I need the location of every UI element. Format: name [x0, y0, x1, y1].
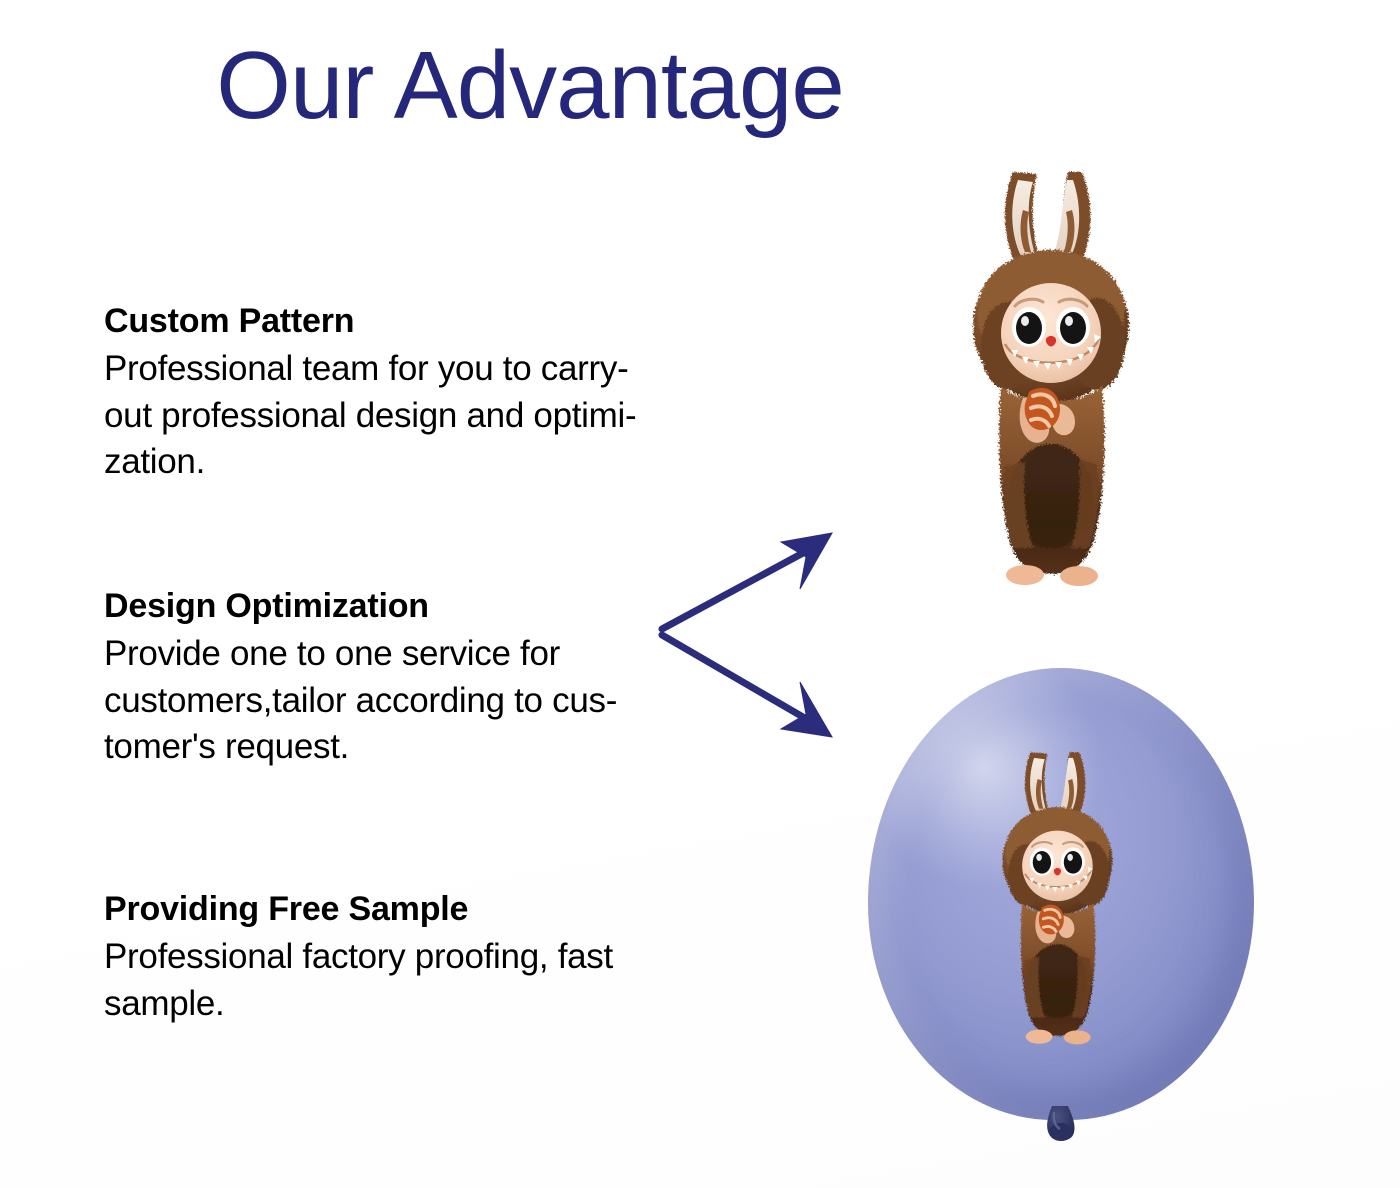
- feature-block-custom-pattern: Custom Pattern Professional team for you…: [104, 300, 794, 486]
- feature-body: Professional factory proofing, fast samp…: [104, 934, 794, 1027]
- advantage-infographic: Our Advantage Custom Pattern Professiona…: [0, 0, 1400, 1188]
- balloon-knot: [1039, 1106, 1083, 1146]
- feature-block-design-optimization: Design Optimization Provide one to one s…: [104, 585, 794, 771]
- feature-title: Providing Free Sample: [104, 888, 794, 930]
- page-title: Our Advantage: [0, 38, 1400, 134]
- balloon-printed-artwork: [986, 748, 1131, 1048]
- feature-body: Provide one to one service for customers…: [104, 631, 794, 771]
- feature-title: Custom Pattern: [104, 300, 794, 342]
- plush-face: [1001, 283, 1101, 383]
- plush-toy-figure-top: [955, 166, 1150, 591]
- bunny-ears: [1005, 172, 1091, 262]
- feature-title: Design Optimization: [104, 585, 794, 627]
- feature-body: Professional team for you to carry- out …: [104, 346, 794, 486]
- printed-balloon: [868, 668, 1254, 1168]
- feature-block-providing-free-sample: Providing Free Sample Professional facto…: [104, 888, 794, 1027]
